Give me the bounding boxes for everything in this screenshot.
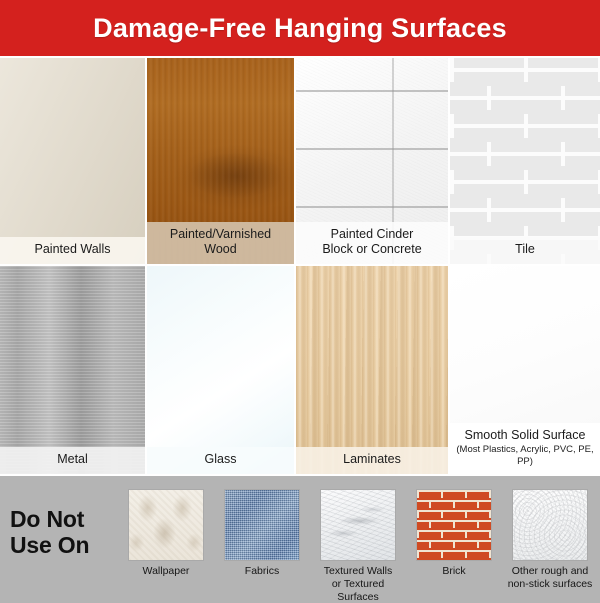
surface-label-painted-cinder-block: Painted Cinder Block or Concrete <box>296 222 448 265</box>
do-not-use-label-wallpaper: Wallpaper <box>143 565 190 578</box>
do-not-use-on-title-line-1: Do Not <box>10 506 84 532</box>
surface-cell-laminates[interactable]: Laminates <box>296 266 450 474</box>
do-not-use-on-items: Wallpaper Fabrics Textured Walls or Text… <box>118 476 598 603</box>
rough-surface-swatch <box>513 490 587 560</box>
do-not-use-item-wallpaper[interactable]: Wallpaper <box>118 476 214 578</box>
do-not-use-label-line-1: Fabrics <box>245 565 279 577</box>
surface-cell-painted-varnished-wood[interactable]: Painted/Varnished Wood <box>147 58 296 266</box>
do-not-use-item-brick[interactable]: Brick <box>406 476 502 578</box>
textured-wall-swatch <box>321 490 395 560</box>
surface-cell-glass[interactable]: Glass <box>147 266 296 474</box>
brushed-metal-texture <box>0 266 145 474</box>
painted-wall-texture <box>0 58 145 264</box>
surface-label-laminates: Laminates <box>296 447 448 474</box>
fabric-swatch <box>225 490 299 560</box>
do-not-use-label-line-1: Brick <box>442 565 465 577</box>
do-not-use-item-textured-walls[interactable]: Textured Walls or Textured Surfaces <box>310 476 406 603</box>
page-title: Damage-Free Hanging Surfaces <box>93 13 507 44</box>
surfaces-row-2: Metal Glass Laminates Smooth Solid Surfa… <box>0 266 600 474</box>
glass-texture <box>147 266 294 474</box>
approved-surfaces-grid: Painted Walls Painted/Varnished Wood Pai… <box>0 58 600 474</box>
surface-label-line-2: Block or Concrete <box>322 242 421 256</box>
do-not-use-label-line-2: or Textured Surfaces <box>332 578 384 603</box>
surface-cell-tile[interactable]: Tile <box>450 58 600 266</box>
surface-label-painted-varnished-wood: Painted/Varnished Wood <box>147 222 294 265</box>
surface-label-metal: Metal <box>0 447 145 474</box>
do-not-use-label-line-2: non-stick surfaces <box>508 578 593 590</box>
damage-free-hanging-surfaces-infographic: Damage-Free Hanging Surfaces Painted Wal… <box>0 0 600 600</box>
do-not-use-item-fabrics[interactable]: Fabrics <box>214 476 310 578</box>
wallpaper-swatch <box>129 490 203 560</box>
surface-cell-painted-cinder-block[interactable]: Painted Cinder Block or Concrete <box>296 58 450 266</box>
do-not-use-label-textured-walls: Textured Walls or Textured Surfaces <box>310 565 406 603</box>
surface-cell-painted-walls[interactable]: Painted Walls <box>0 58 147 266</box>
surface-label-line-1: Painted/Varnished <box>170 227 271 241</box>
do-not-use-label-line-1: Textured Walls <box>324 565 392 577</box>
do-not-use-label-other-rough: Other rough and non-stick surfaces <box>508 565 593 591</box>
surface-label-line-2: Wood <box>204 242 236 256</box>
surface-label-glass: Glass <box>147 447 294 474</box>
do-not-use-on-section: Do Not Use On Wallpaper Fabrics Textured… <box>0 474 600 603</box>
do-not-use-label-line-1: Wallpaper <box>143 565 190 577</box>
do-not-use-label-fabrics: Fabrics <box>245 565 279 578</box>
do-not-use-on-title-line-2: Use On <box>10 532 89 558</box>
do-not-use-item-other-rough[interactable]: Other rough and non-stick surfaces <box>502 476 598 591</box>
do-not-use-label-brick: Brick <box>442 565 465 578</box>
subway-tile-texture <box>450 58 600 264</box>
surface-cell-metal[interactable]: Metal <box>0 266 147 474</box>
do-not-use-label-line-1: Other rough and <box>512 565 588 577</box>
header-banner: Damage-Free Hanging Surfaces <box>0 0 600 58</box>
brick-swatch <box>417 490 491 560</box>
surface-cell-smooth-solid-surface[interactable]: Smooth Solid Surface (Most Plastics, Acr… <box>450 266 600 474</box>
surface-label-line-1: Painted Cinder <box>331 227 414 241</box>
surface-label-tile: Tile <box>450 237 600 264</box>
laminate-texture <box>296 266 448 474</box>
surface-label-painted-walls: Painted Walls <box>0 237 145 264</box>
surface-sublabel-smooth-solid-surface: (Most Plastics, Acrylic, PVC, PE, PP) <box>454 444 596 467</box>
surface-label-main: Smooth Solid Surface <box>465 428 586 442</box>
do-not-use-on-title: Do Not Use On <box>10 507 118 572</box>
tile-grout-lines <box>450 58 600 264</box>
surfaces-row-1: Painted Walls Painted/Varnished Wood Pai… <box>0 58 600 266</box>
surface-label-smooth-solid-surface: Smooth Solid Surface (Most Plastics, Acr… <box>450 423 600 474</box>
